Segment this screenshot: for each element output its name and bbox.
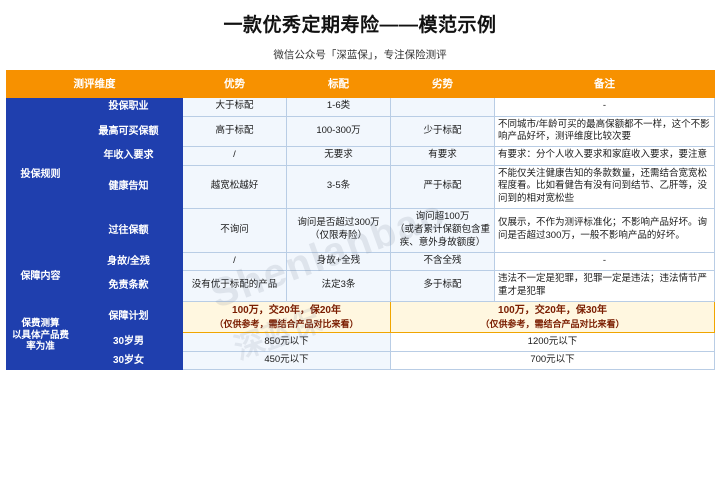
plan-left: 100万，交20年，保20年 （仅供参考，需结合产品对比来看）: [183, 301, 391, 333]
disadvantage-existing-coverage: 询问超100万 （或者累计保额包含重疾、意外身故额度）: [391, 209, 495, 252]
table-row: 过往保额 不询问 询问是否超过300万 （仅限寿险） 询问超100万 （或者累计…: [7, 209, 715, 252]
plan-right: 100万，交20年，保30年 （仅供参考，需结合产品对比来看）: [391, 301, 715, 333]
note-income: 有要求：分个人收入要求和家庭收入要求，要注意: [495, 147, 715, 166]
table-row: 保障内容 身故/全残 / 身故+全残 不含全残 -: [7, 252, 715, 271]
column-header-standard: 标配: [287, 71, 391, 98]
column-header-note: 备注: [495, 71, 715, 98]
group-label-underwriting: 投保规则: [7, 98, 75, 253]
advantage-health-declaration: 越宽松越好: [183, 165, 287, 208]
dimension-existing-coverage: 过往保额: [75, 209, 183, 252]
group-label-premium: 保费测算 以具体产品费率为准: [7, 301, 75, 370]
dimension-male-30: 30岁男: [75, 333, 183, 352]
disadvantage-occupation: [391, 98, 495, 117]
standard-max-coverage: 100-300万: [287, 116, 391, 147]
plan-right-main: 100万，交20年，保30年: [498, 305, 607, 316]
advantage-exclusions: 没有优于标配的产品: [183, 271, 287, 302]
disadvantage-income: 有要求: [391, 147, 495, 166]
premium-male-30-left: 850元以下: [183, 333, 391, 352]
column-header-dimension: 测评维度: [7, 71, 183, 98]
note-max-coverage: 不同城市/年龄可买的最高保额都不一样，这个不影响产品好坏，测评维度比较次要: [495, 116, 715, 147]
standard-existing-coverage: 询问是否超过300万 （仅限寿险）: [287, 209, 391, 252]
page-title: 一款优秀定期寿险——模范示例: [0, 10, 720, 37]
note-existing-coverage: 仅展示，不作为测评标准化；不影响产品好坏。询问是否超过300万，一般不影响产品的…: [495, 209, 715, 252]
disadvantage-health-declaration: 严于标配: [391, 165, 495, 208]
page-subtitle: 微信公众号「深蓝保」，专注保险测评: [0, 47, 720, 62]
disadvantage-exclusions: 多于标配: [391, 271, 495, 302]
plan-left-sub: （仅供参考，需结合产品对比来看）: [186, 318, 387, 330]
premium-male-30-right: 1200元以下: [391, 333, 715, 352]
dimension-income: 年收入要求: [75, 147, 183, 166]
group-label-benefits: 保障内容: [7, 252, 75, 301]
advantage-death-disability: /: [183, 252, 287, 271]
note-exclusions: 违法不一定是犯罪，犯罪一定是违法；违法情节严重才是犯罪: [495, 271, 715, 302]
table-row: 免责条款 没有优于标配的产品 法定3条 多于标配 违法不一定是犯罪，犯罪一定是违…: [7, 271, 715, 302]
dimension-death-disability: 身故/全残: [75, 252, 183, 271]
table-row: 30岁女 450元以下 700元以下: [7, 351, 715, 370]
premium-female-30-right: 700元以下: [391, 351, 715, 370]
table-row: 30岁男 850元以下 1200元以下: [7, 333, 715, 352]
disadvantage-max-coverage: 少于标配: [391, 116, 495, 147]
standard-occupation: 1-6类: [287, 98, 391, 117]
dimension-female-30: 30岁女: [75, 351, 183, 370]
column-header-advantage: 优势: [183, 71, 287, 98]
comparison-table: 测评维度 优势 标配 劣势 备注 投保规则 投保职业 大于标配 1-6类 - 最…: [6, 70, 715, 370]
column-header-disadvantage: 劣势: [391, 71, 495, 98]
plan-left-main: 100万，交20年，保20年: [232, 305, 341, 316]
standard-exclusions: 法定3条: [287, 271, 391, 302]
standard-income: 无要求: [287, 147, 391, 166]
standard-health-declaration: 3-5条: [287, 165, 391, 208]
plan-right-sub: （仅供参考，需结合产品对比来看）: [394, 318, 711, 330]
table-header-row: 测评维度 优势 标配 劣势 备注: [7, 71, 715, 98]
advantage-occupation: 大于标配: [183, 98, 287, 117]
advantage-existing-coverage: 不询问: [183, 209, 287, 252]
note-death-disability: -: [495, 252, 715, 271]
dimension-max-coverage: 最高可买保额: [75, 116, 183, 147]
advantage-income: /: [183, 147, 287, 166]
table-row: 保费测算 以具体产品费率为准 保障计划 100万，交20年，保20年 （仅供参考…: [7, 301, 715, 333]
advantage-max-coverage: 高于标配: [183, 116, 287, 147]
dimension-health-declaration: 健康告知: [75, 165, 183, 208]
table-row: 健康告知 越宽松越好 3-5条 严于标配 不能仅关注健康告知的条款数量，还需结合…: [7, 165, 715, 208]
dimension-occupation: 投保职业: [75, 98, 183, 117]
dimension-plan: 保障计划: [75, 301, 183, 333]
table-row: 投保规则 投保职业 大于标配 1-6类 -: [7, 98, 715, 117]
dimension-exclusions: 免责条款: [75, 271, 183, 302]
premium-female-30-left: 450元以下: [183, 351, 391, 370]
table-row: 年收入要求 / 无要求 有要求 有要求：分个人收入要求和家庭收入要求，要注意: [7, 147, 715, 166]
note-health-declaration: 不能仅关注健康告知的条款数量，还需结合宽宽松程度看。比如看健告有没有问到结节、乙…: [495, 165, 715, 208]
disadvantage-death-disability: 不含全残: [391, 252, 495, 271]
standard-death-disability: 身故+全残: [287, 252, 391, 271]
note-occupation: -: [495, 98, 715, 117]
table-row: 最高可买保额 高于标配 100-300万 少于标配 不同城市/年龄可买的最高保额…: [7, 116, 715, 147]
